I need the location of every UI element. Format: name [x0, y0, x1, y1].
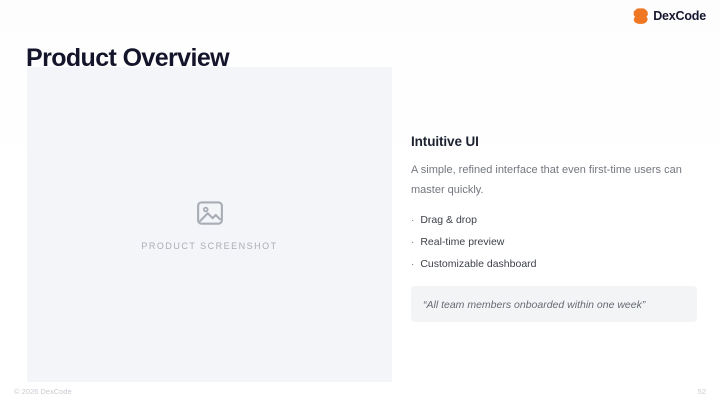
content-heading: Intuitive UI	[411, 134, 697, 149]
list-item: · Drag & drop	[411, 214, 697, 226]
bullet-dot-icon: ·	[411, 260, 414, 270]
feature-bullet-list: · Drag & drop · Real-time preview · Cust…	[411, 214, 697, 270]
bullet-dot-icon: ·	[411, 216, 414, 226]
product-screenshot-placeholder: PRODUCT SCREENSHOT	[27, 67, 392, 382]
content-body: A simple, refined interface that even fi…	[411, 160, 693, 201]
footer-page-number: 52	[698, 387, 706, 396]
dexcode-blob-icon	[633, 8, 648, 24]
list-item: · Real-time preview	[411, 236, 697, 248]
list-item-label: Real-time preview	[420, 236, 504, 248]
brand-name: DexCode	[653, 10, 706, 23]
image-placeholder-icon	[195, 198, 225, 228]
list-item-label: Drag & drop	[420, 214, 477, 226]
testimonial-quote-box: “All team members onboarded within one w…	[411, 286, 697, 322]
list-item: · Customizable dashboard	[411, 258, 697, 270]
bullet-dot-icon: ·	[411, 238, 414, 248]
media-caption: PRODUCT SCREENSHOT	[141, 241, 277, 251]
slide-canvas: DexCode Product Overview PRODUCT SCREENS…	[0, 0, 720, 405]
brand-logo: DexCode	[633, 8, 706, 24]
footer-copyright: © 2026 DexCode	[14, 387, 72, 396]
testimonial-quote-text: “All team members onboarded within one w…	[423, 299, 645, 311]
list-item-label: Customizable dashboard	[420, 258, 536, 270]
content-column: Intuitive UI A simple, refined interface…	[411, 134, 697, 322]
